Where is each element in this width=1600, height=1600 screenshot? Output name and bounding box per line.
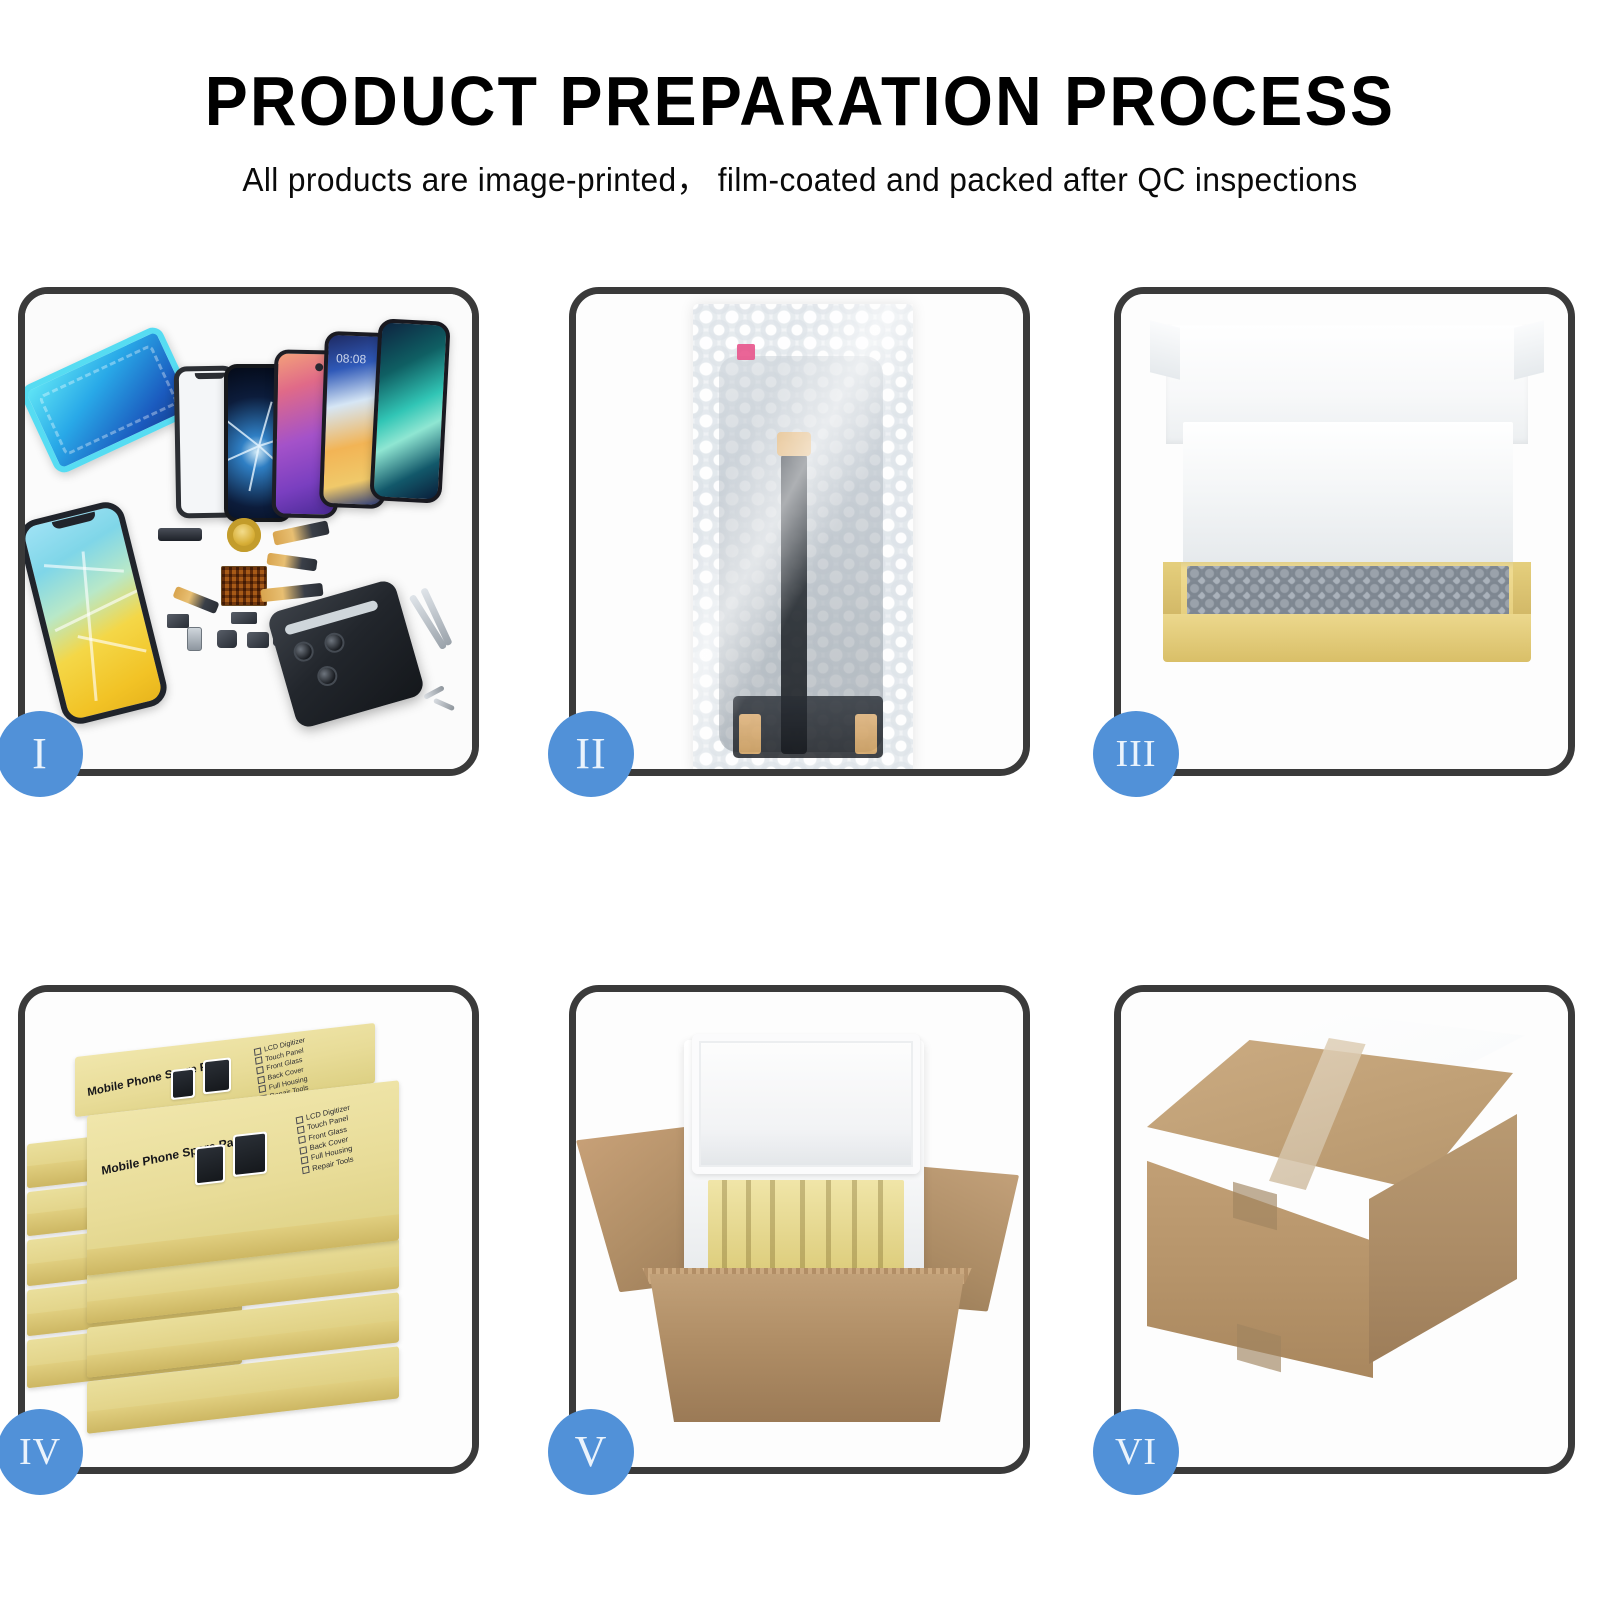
panel-step-3-image — [1121, 294, 1568, 769]
adhesive-frame-part — [25, 324, 199, 477]
flex-cable-part-3 — [260, 583, 323, 602]
phone-clock-label: 08:08 — [336, 351, 367, 366]
product-box-thumb-2 — [203, 1057, 231, 1094]
gold-box-stack: Mobile Phone Spare Parts LCD Digitizer T… — [25, 992, 472, 1467]
ic-chip-part — [221, 566, 267, 606]
panel-step-2[interactable]: II — [569, 287, 1030, 776]
cracked-yellow-phone — [25, 498, 171, 728]
page-title: PRODUCT PREPARATION PROCESS — [64, 66, 1536, 137]
spare-parts-collage: 08:08 — [25, 294, 472, 769]
teal-phone-screen — [369, 318, 450, 504]
panel-step-6-image — [1121, 992, 1568, 1467]
panel-step-3[interactable]: III — [1114, 287, 1575, 776]
panel-step-1[interactable]: 08:08 — [18, 287, 479, 776]
product-box-thumb-3 — [195, 1144, 225, 1185]
panel-step-2-image — [576, 294, 1023, 769]
step-badge-5: V — [548, 1409, 634, 1495]
small-component-5 — [167, 614, 189, 628]
screwdriver-tool — [423, 686, 472, 716]
small-component-1 — [231, 612, 257, 624]
bubble-wrap-package — [693, 304, 913, 769]
small-component-3 — [247, 632, 269, 648]
page-subtitle: All products are image-printed， film-coa… — [32, 153, 1568, 201]
foam-cooler-lid — [692, 1034, 920, 1174]
speaker-part — [158, 528, 202, 541]
panel-step-6[interactable]: VI — [1114, 985, 1575, 1474]
product-box-checklist-front: LCD Digitizer Touch Panel Front Glass Ba… — [295, 1103, 356, 1176]
process-step-grid: 08:08 — [18, 287, 1582, 1457]
sim-tray-part — [187, 627, 202, 651]
gold-mailer-box-front — [1163, 614, 1531, 662]
page-header: PRODUCT PREPARATION PROCESS All products… — [0, 0, 1600, 201]
product-box-thumb-1 — [171, 1067, 195, 1100]
small-component-2 — [217, 630, 237, 648]
step-badge-3: III — [1093, 711, 1179, 797]
panel-step-5-image — [576, 992, 1023, 1467]
panel-step-1-image: 08:08 — [25, 294, 472, 769]
step-badge-4: IV — [0, 1409, 83, 1495]
panel-step-4[interactable]: Mobile Phone Spare Parts LCD Digitizer T… — [18, 985, 479, 1474]
lcd-connector-board — [733, 696, 883, 758]
flex-cable-part-1 — [272, 520, 330, 545]
step-badge-1: I — [0, 711, 83, 797]
panel-step-4-image: Mobile Phone Spare Parts LCD Digitizer T… — [25, 992, 472, 1467]
step-badge-6: VI — [1093, 1409, 1179, 1495]
pink-qc-sticker — [737, 344, 755, 360]
product-box-thumb-4 — [233, 1131, 267, 1177]
step-badge-2: II — [548, 711, 634, 797]
flex-cable-part-4 — [172, 586, 219, 614]
carton-body — [632, 1274, 982, 1422]
wireless-charging-coil-part — [227, 518, 261, 552]
flex-cable-part-2 — [266, 553, 317, 572]
packed-gold-boxes — [708, 1180, 904, 1272]
product-box-brand-label-2: Mobile Phone Spare Parts — [101, 1132, 250, 1178]
white-foam-sheet — [1183, 422, 1513, 572]
panel-step-5[interactable]: V — [569, 985, 1030, 1474]
